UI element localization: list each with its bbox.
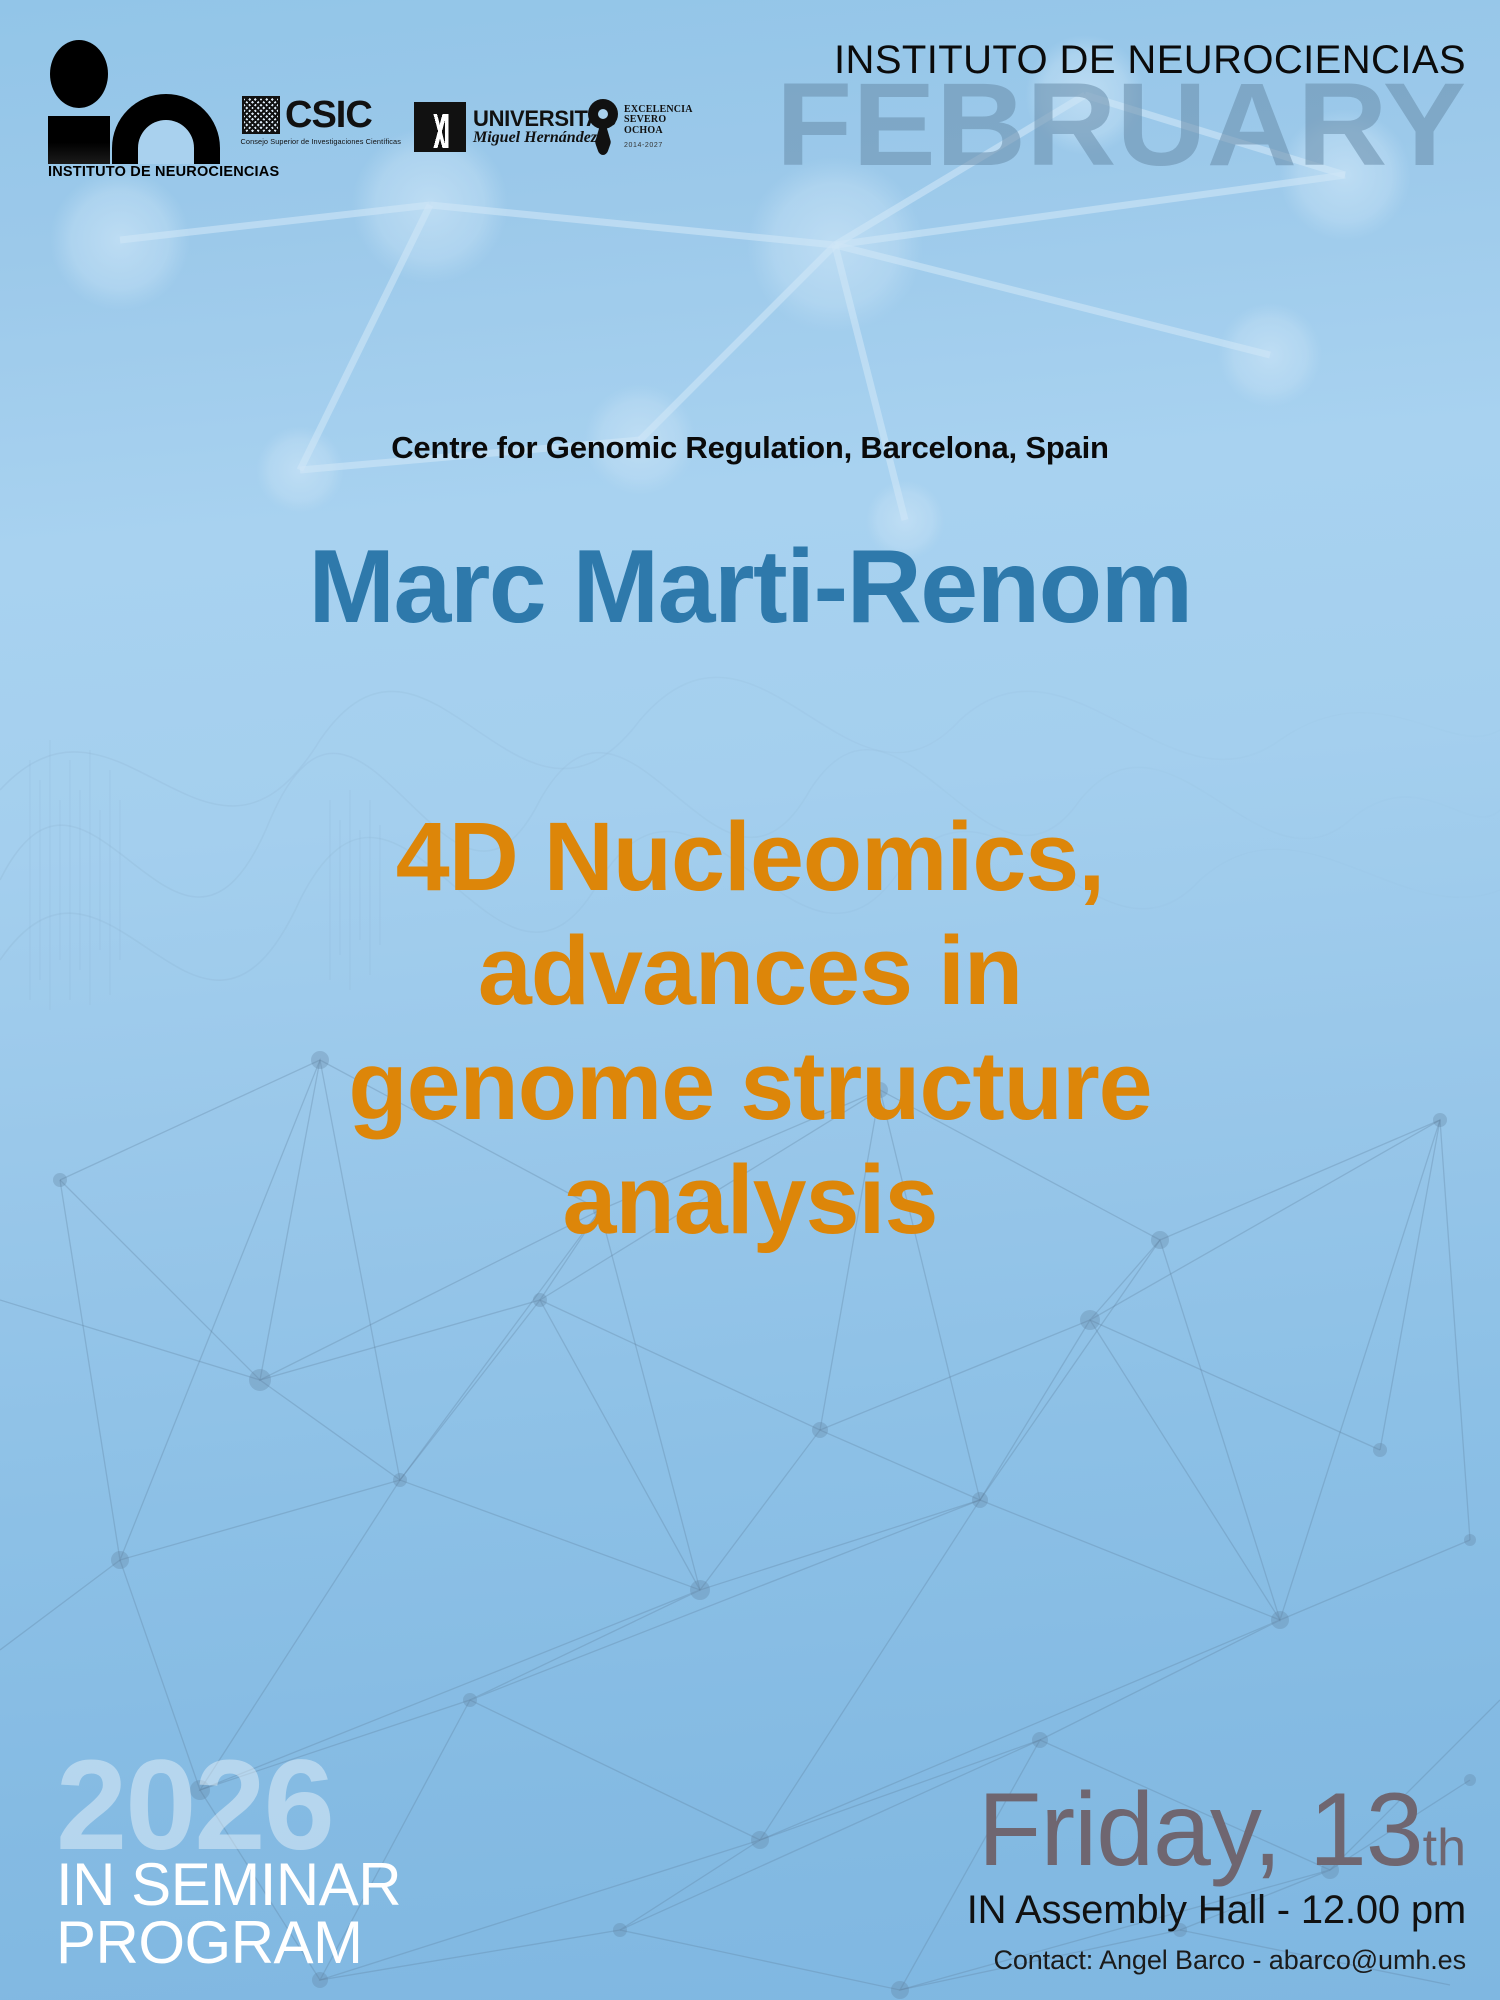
in-logo-caption: INSTITUTO DE NEUROCIENCIAS xyxy=(48,164,279,180)
csic-subtitle: Consejo Superior de Investigaciones Cien… xyxy=(241,137,394,146)
severo-ochoa-logo: EXCELENCIA SEVERO OCHOA 2014-2027 xyxy=(588,96,728,158)
event-venue-time: IN Assembly Hall - 12.00 pm xyxy=(967,1888,1466,1933)
event-date: Friday, 13th xyxy=(967,1778,1466,1882)
speaker-affiliation: Centre for Genomic Regulation, Barcelona… xyxy=(0,430,1500,466)
in-logo-dot-icon xyxy=(50,40,108,108)
speaker-name: Marc Marti-Renom xyxy=(0,535,1500,639)
universidad-miguel-hernandez-logo: UNIVERSITAS Miguel Hernández xyxy=(414,96,566,158)
talk-title-line: analysis xyxy=(70,1143,1430,1257)
program-year: 2026 xyxy=(56,1756,476,1856)
program-name-line1: IN SEMINAR xyxy=(56,1856,476,1914)
event-contact: Contact: Angel Barco - abarco@umh.es xyxy=(967,1945,1466,1976)
logo-row: INSTITUTO DE NEUROCIENCIAS CSIC Consejo … xyxy=(40,38,728,158)
severo-ochoa-line3: OCHOA xyxy=(624,126,693,137)
talk-title: 4D Nucleomics, advances in genome struct… xyxy=(70,800,1430,1258)
csic-seal-icon xyxy=(242,96,280,134)
event-details-block: Friday, 13th IN Assembly Hall - 12.00 pm… xyxy=(967,1778,1466,1976)
severo-ochoa-key-icon xyxy=(588,99,618,155)
event-date-text: Friday, 13 xyxy=(978,1772,1423,1888)
event-date-ordinal-suffix: th xyxy=(1423,1819,1466,1877)
csic-wordmark: CSIC xyxy=(285,98,372,132)
in-logo-stem-icon xyxy=(48,116,110,164)
talk-title-line: advances in xyxy=(70,914,1430,1028)
seminar-poster: INSTITUTO DE NEUROCIENCIAS CSIC Consejo … xyxy=(0,0,1500,2000)
talk-title-line: 4D Nucleomics, xyxy=(70,800,1430,914)
program-branding-block: 2026 IN SEMINAR PROGRAM xyxy=(56,1756,476,1972)
month-heading: FEBRUARY xyxy=(776,77,1466,174)
instituto-neurociencias-logo: INSTITUTO DE NEUROCIENCIAS xyxy=(40,38,220,158)
in-logo-arch-icon xyxy=(112,94,220,164)
talk-title-line: genome structure xyxy=(70,1029,1430,1143)
header-title-block: INSTITUTO DE NEUROCIENCIAS FEBRUARY xyxy=(815,38,1466,174)
poster-header: INSTITUTO DE NEUROCIENCIAS CSIC Consejo … xyxy=(0,0,1500,190)
severo-ochoa-years: 2014-2027 xyxy=(624,142,693,150)
csic-logo: CSIC Consejo Superior de Investigaciones… xyxy=(242,96,392,158)
umh-monogram-icon xyxy=(414,102,466,152)
program-name-line2: PROGRAM xyxy=(56,1914,476,1972)
